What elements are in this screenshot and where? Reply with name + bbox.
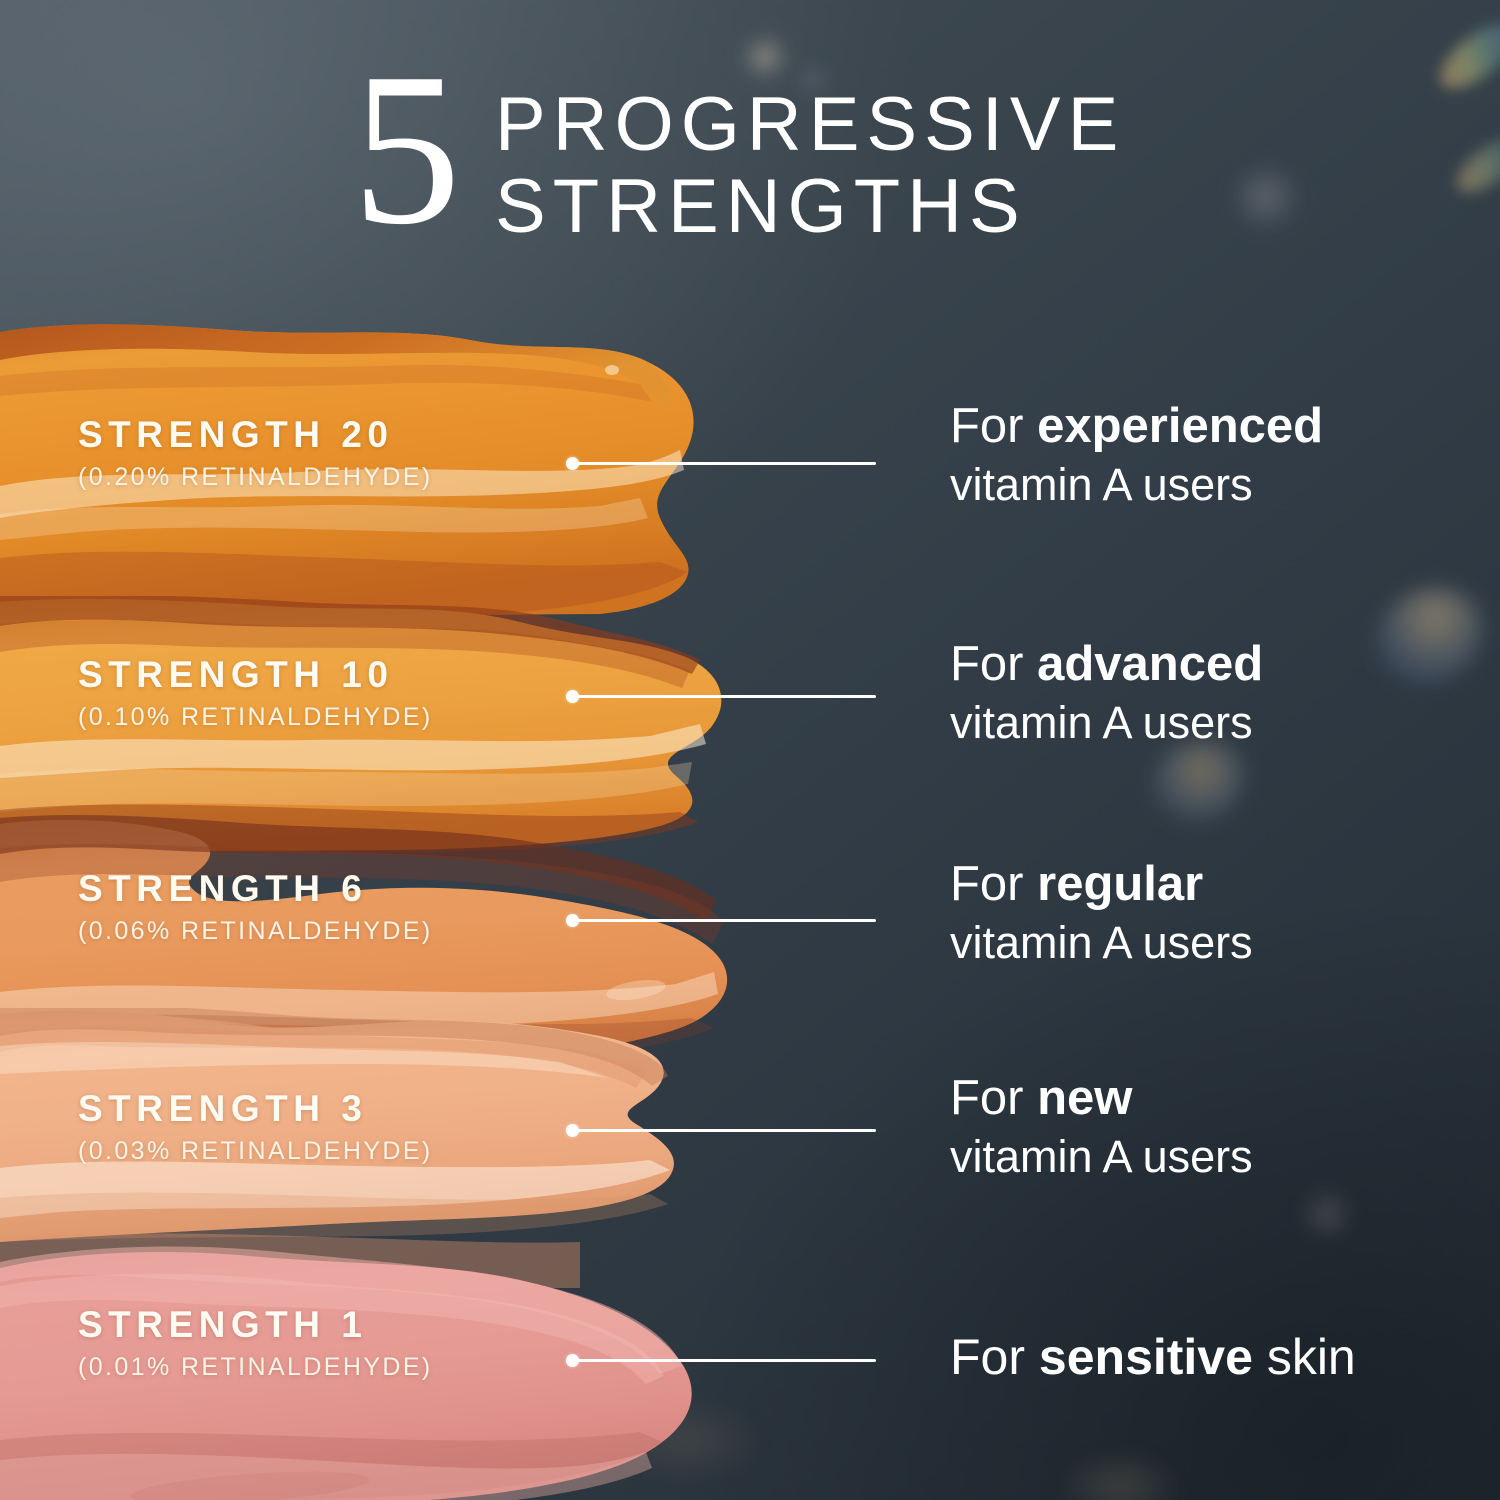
desc-10-prefix: For xyxy=(950,637,1024,691)
connector-strength-20 xyxy=(566,455,876,471)
desc-10-line2: vitamin A users xyxy=(950,696,1263,749)
connector-strength-3 xyxy=(566,1122,876,1138)
desc-strength-10: For advanced vitamin A users xyxy=(950,638,1263,749)
label-strength-6: STRENGTH 6 (0.06% RETINALDEHYDE) xyxy=(78,868,433,946)
connector-strength-1 xyxy=(566,1352,876,1368)
connector-strength-6 xyxy=(566,912,876,928)
connector-line-10 xyxy=(577,695,876,698)
desc-20-line2: vitamin A users xyxy=(950,458,1323,511)
label-strength-20: STRENGTH 20 (0.20% RETINALDEHYDE) xyxy=(78,414,433,492)
desc-1-prefix: For xyxy=(950,1329,1025,1385)
desc-strength-1: For sensitive skin xyxy=(950,1330,1356,1385)
strength-3-subtitle: (0.03% RETINALDEHYDE) xyxy=(78,1137,433,1166)
title-line-1: PROGRESSIVE xyxy=(495,84,1125,166)
strength-10-title: STRENGTH 10 xyxy=(78,654,433,696)
desc-6-line1: For regular xyxy=(950,858,1253,912)
infographic-canvas: 5 PROGRESSIVE STRENGTHS xyxy=(0,0,1500,1500)
strength-20-title: STRENGTH 20 xyxy=(78,414,433,456)
strength-6-subtitle: (0.06% RETINALDEHYDE) xyxy=(78,917,433,946)
desc-3-emphasis: new xyxy=(1037,1071,1132,1125)
desc-3-prefix: For xyxy=(950,1071,1024,1125)
desc-20-prefix: For xyxy=(950,399,1024,453)
desc-10-line1: For advanced xyxy=(950,638,1263,692)
desc-1-suffix: skin xyxy=(1267,1329,1356,1385)
desc-3-line2: vitamin A users xyxy=(950,1130,1253,1183)
desc-strength-3: For new vitamin A users xyxy=(950,1072,1253,1183)
connector-line-1 xyxy=(577,1359,876,1362)
bokeh-streak-1 xyxy=(1429,12,1500,100)
bokeh-orb-4 xyxy=(1360,569,1500,703)
title-text: PROGRESSIVE STRENGTHS xyxy=(495,84,1125,248)
desc-10-emphasis: advanced xyxy=(1037,637,1263,691)
label-strength-3: STRENGTH 3 (0.03% RETINALDEHYDE) xyxy=(78,1088,433,1166)
connector-line-3 xyxy=(577,1129,876,1132)
title-numeral: 5 xyxy=(352,54,459,246)
label-strength-10: STRENGTH 10 (0.10% RETINALDEHYDE) xyxy=(78,654,433,732)
strength-3-title: STRENGTH 3 xyxy=(78,1088,433,1130)
desc-1-line1: For sensitive skin xyxy=(950,1330,1356,1385)
connector-line-6 xyxy=(577,919,876,922)
desc-strength-6: For regular vitamin A users xyxy=(950,858,1253,969)
connector-line-20 xyxy=(577,462,876,465)
bokeh-orb-6 xyxy=(1298,1190,1356,1238)
connector-strength-10 xyxy=(566,688,876,704)
strength-1-subtitle: (0.01% RETINALDEHYDE) xyxy=(78,1353,433,1382)
desc-3-line1: For new xyxy=(950,1072,1253,1126)
desc-strength-20: For experienced vitamin A users xyxy=(950,400,1323,511)
label-strength-1: STRENGTH 1 (0.01% RETINALDEHYDE) xyxy=(78,1304,433,1382)
page-title: 5 PROGRESSIVE STRENGTHS xyxy=(352,62,1252,282)
strength-1-title: STRENGTH 1 xyxy=(78,1304,433,1346)
bokeh-orb-7 xyxy=(1060,1452,1180,1500)
desc-20-line1: For experienced xyxy=(950,400,1323,454)
strength-20-subtitle: (0.20% RETINALDEHYDE) xyxy=(78,463,433,492)
desc-6-prefix: For xyxy=(950,857,1024,911)
desc-6-emphasis: regular xyxy=(1037,857,1203,911)
strength-10-subtitle: (0.10% RETINALDEHYDE) xyxy=(78,703,433,732)
bokeh-streak-2 xyxy=(1448,128,1500,203)
desc-1-emphasis: sensitive xyxy=(1039,1329,1253,1385)
desc-20-emphasis: experienced xyxy=(1037,399,1323,453)
title-line-2: STRENGTHS xyxy=(495,166,1125,248)
strength-6-title: STRENGTH 6 xyxy=(78,868,433,910)
desc-6-line2: vitamin A users xyxy=(950,916,1253,969)
